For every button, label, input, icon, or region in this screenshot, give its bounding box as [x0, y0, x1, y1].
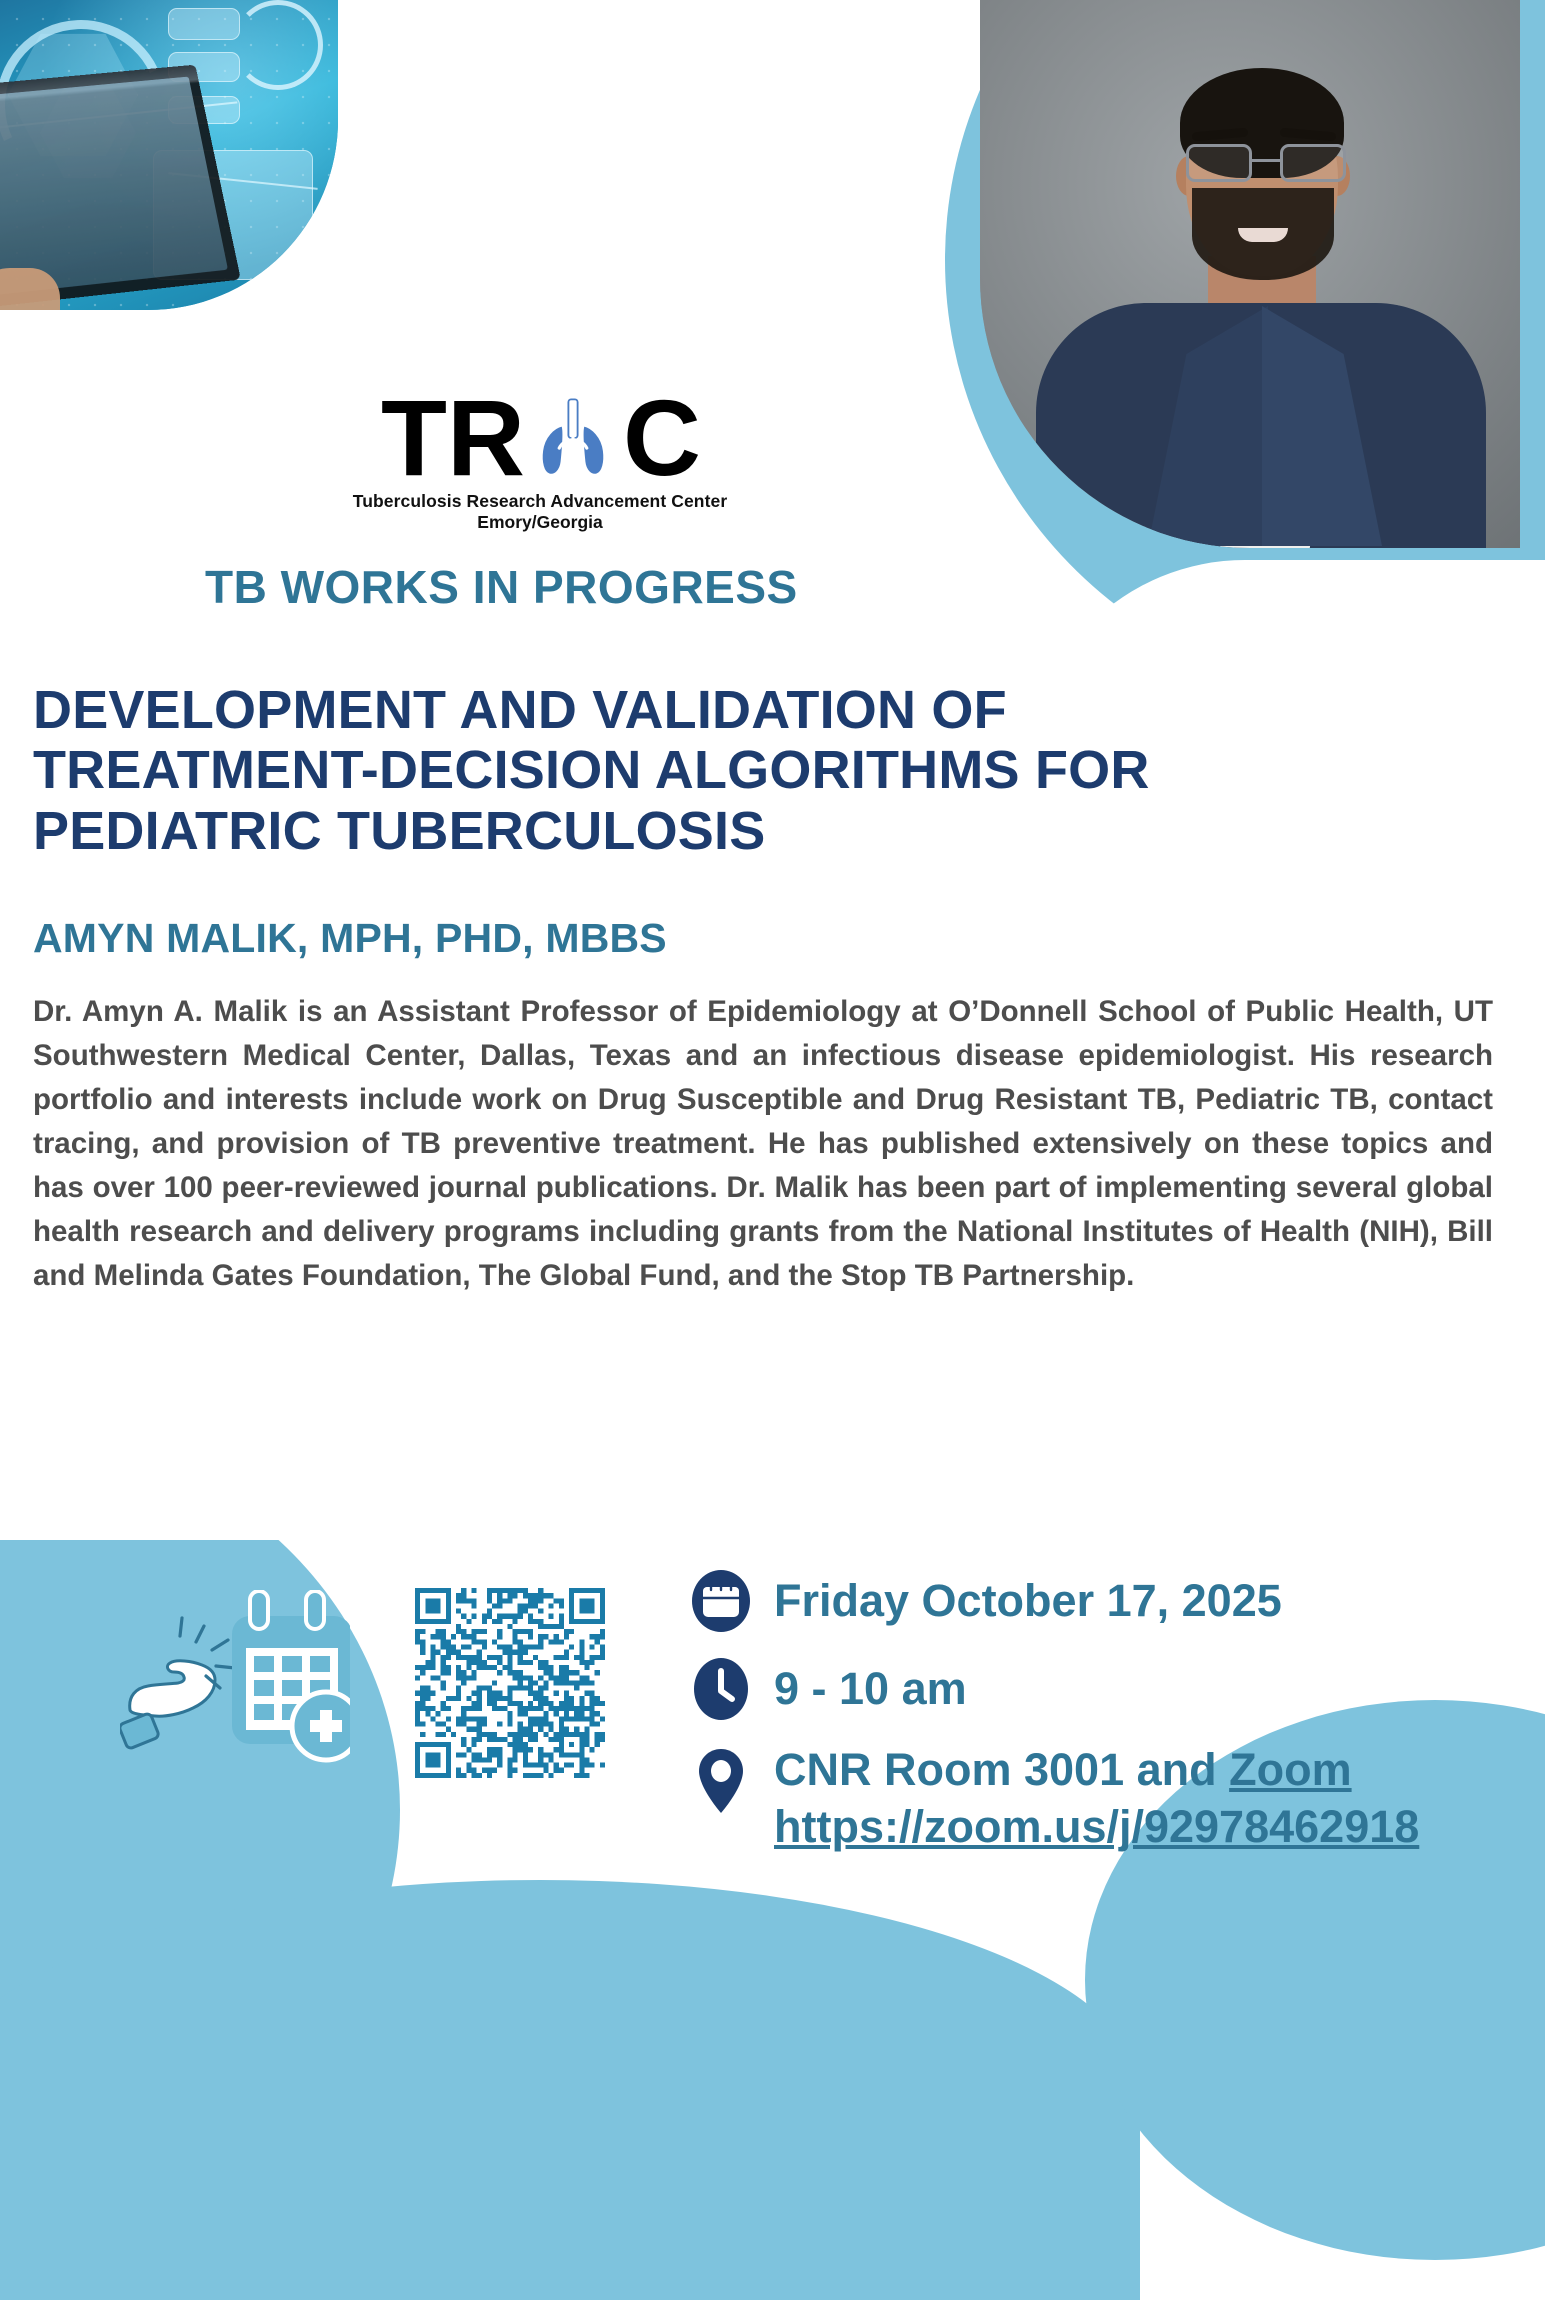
add-to-calendar-icon — [120, 1590, 350, 1780]
speaker-name: AMYN MALIK, MPH, PHD, MBBS — [33, 915, 667, 962]
event-date-row: Friday October 17, 2025 — [690, 1570, 1520, 1632]
event-details-section: Friday October 17, 2025 9 - 10 am CNR Ro… — [0, 1560, 1545, 2000]
event-location-text: CNR Room 3001 and — [774, 1744, 1229, 1795]
event-location-row: CNR Room 3001 and Zoom https://zoom.us/j… — [690, 1746, 1520, 1853]
trac-logo: T R C Tuberculosis Research Advancement … — [330, 388, 750, 533]
series-label: TB WORKS IN PROGRESS — [205, 560, 798, 614]
event-time-row: 9 - 10 am — [690, 1658, 1520, 1720]
logo-letter-c: C — [623, 388, 699, 487]
speaker-bio: Dr. Amyn A. Malik is an Assistant Profes… — [33, 990, 1493, 1298]
logo-subtitle: Tuberculosis Research Advancement Center — [330, 491, 750, 512]
lungs-icon — [527, 390, 619, 486]
event-time: 9 - 10 am — [774, 1665, 967, 1712]
page-title: DEVELOPMENT AND VALIDATION OF TREATMENT-… — [33, 680, 1353, 861]
event-info-list: Friday October 17, 2025 9 - 10 am CNR Ro… — [690, 1570, 1520, 1853]
event-date: Friday October 17, 2025 — [774, 1577, 1282, 1624]
pointing-hand-icon — [120, 1618, 235, 1749]
event-location: CNR Room 3001 and Zoom — [774, 1746, 1419, 1793]
logo-letter-r: R — [447, 388, 523, 487]
clock-icon — [690, 1658, 752, 1720]
data-analytics-laptop-image — [0, 0, 338, 310]
qr-code[interactable] — [415, 1588, 605, 1778]
logo-letter-t: T — [381, 388, 445, 487]
speaker-portrait — [980, 0, 1520, 548]
calendar-plus-icon — [232, 1591, 350, 1760]
zoom-link[interactable]: https://zoom.us/j/92978462918 — [774, 1801, 1419, 1853]
zoom-label[interactable]: Zoom — [1229, 1744, 1351, 1795]
logo-subtitle-affiliation: Emory/Georgia — [330, 512, 750, 533]
map-pin-icon — [690, 1746, 752, 1808]
calendar-icon — [690, 1570, 752, 1632]
eyeglasses — [1180, 144, 1352, 184]
